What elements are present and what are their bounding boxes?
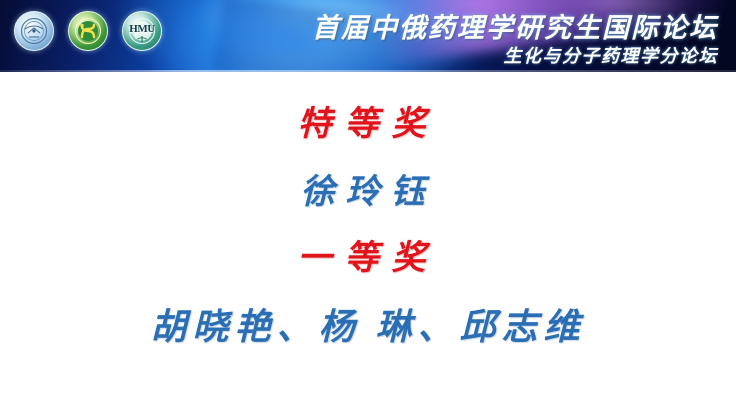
presentation-slide: HMU 首届中俄药理学研究生国际论坛 生化与分子药理学分论坛 特等奖 徐玲钰 一… <box>0 0 736 407</box>
institute-crest-icon <box>19 16 49 46</box>
slide-body: 特等奖 徐玲钰 一等奖 胡晓艳、杨 琳、邱志维 <box>0 72 736 407</box>
forum-title: 首届中俄药理学研究生国际论坛 <box>312 6 718 45</box>
serpent-leaf-icon <box>73 16 103 46</box>
green-pharmacology-emblem <box>68 11 108 51</box>
hmu-emblem: HMU <box>122 11 162 51</box>
award-winners-first: 胡晓艳、杨 琳、邱志维 <box>0 298 736 350</box>
award-category-special: 特等奖 <box>0 96 736 145</box>
award-category-first: 一等奖 <box>0 230 736 279</box>
award-winner-special: 徐玲钰 <box>0 164 736 213</box>
forum-subtitle: 生化与分子药理学分论坛 <box>504 42 719 68</box>
hmu-emblem-text: HMU <box>123 23 161 35</box>
slide-header-banner: HMU 首届中俄药理学研究生国际论坛 生化与分子药理学分论坛 <box>0 0 736 72</box>
logo-group: HMU <box>14 11 162 51</box>
harbin-institute-emblem <box>14 11 54 51</box>
